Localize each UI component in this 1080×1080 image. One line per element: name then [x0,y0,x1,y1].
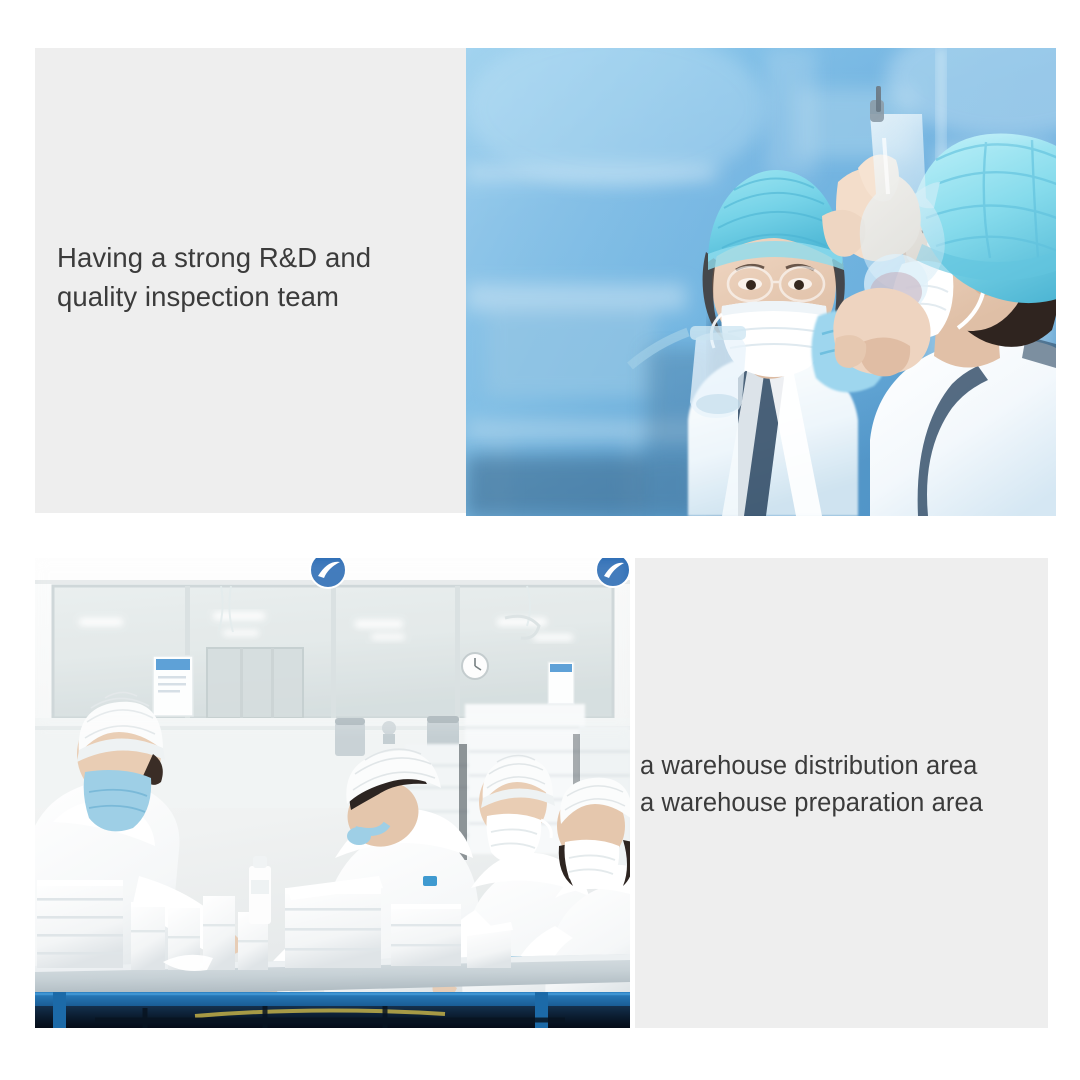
rnd-caption-line-1: Having a strong R&D and [57,238,457,277]
warehouse-text-panel: a warehouse distribution area a warehous… [635,558,1048,1028]
poster-canvas: Having a strong R&D and quality inspecti… [0,0,1080,1080]
warehouse-caption-line-1: a warehouse distribution area [640,748,1060,785]
section-rnd-quality: Having a strong R&D and quality inspecti… [35,48,1056,516]
white-bottle [249,856,271,924]
rnd-lab-photo [466,48,1056,516]
rnd-caption: Having a strong R&D and quality inspecti… [57,238,457,316]
warehouse-caption-line-2: a warehouse preparation area [640,785,1060,822]
rnd-text-panel: Having a strong R&D and quality inspecti… [35,48,466,513]
warehouse-caption: a warehouse distribution area a warehous… [640,748,1060,822]
warehouse-packing-photo [35,558,630,1028]
rnd-caption-line-2: quality inspection team [57,277,457,316]
lab-inspection-illustration [466,48,1056,516]
warehouse-packing-illustration [35,558,630,1028]
section-warehouse-areas: a warehouse distribution area a warehous… [35,558,1048,1028]
